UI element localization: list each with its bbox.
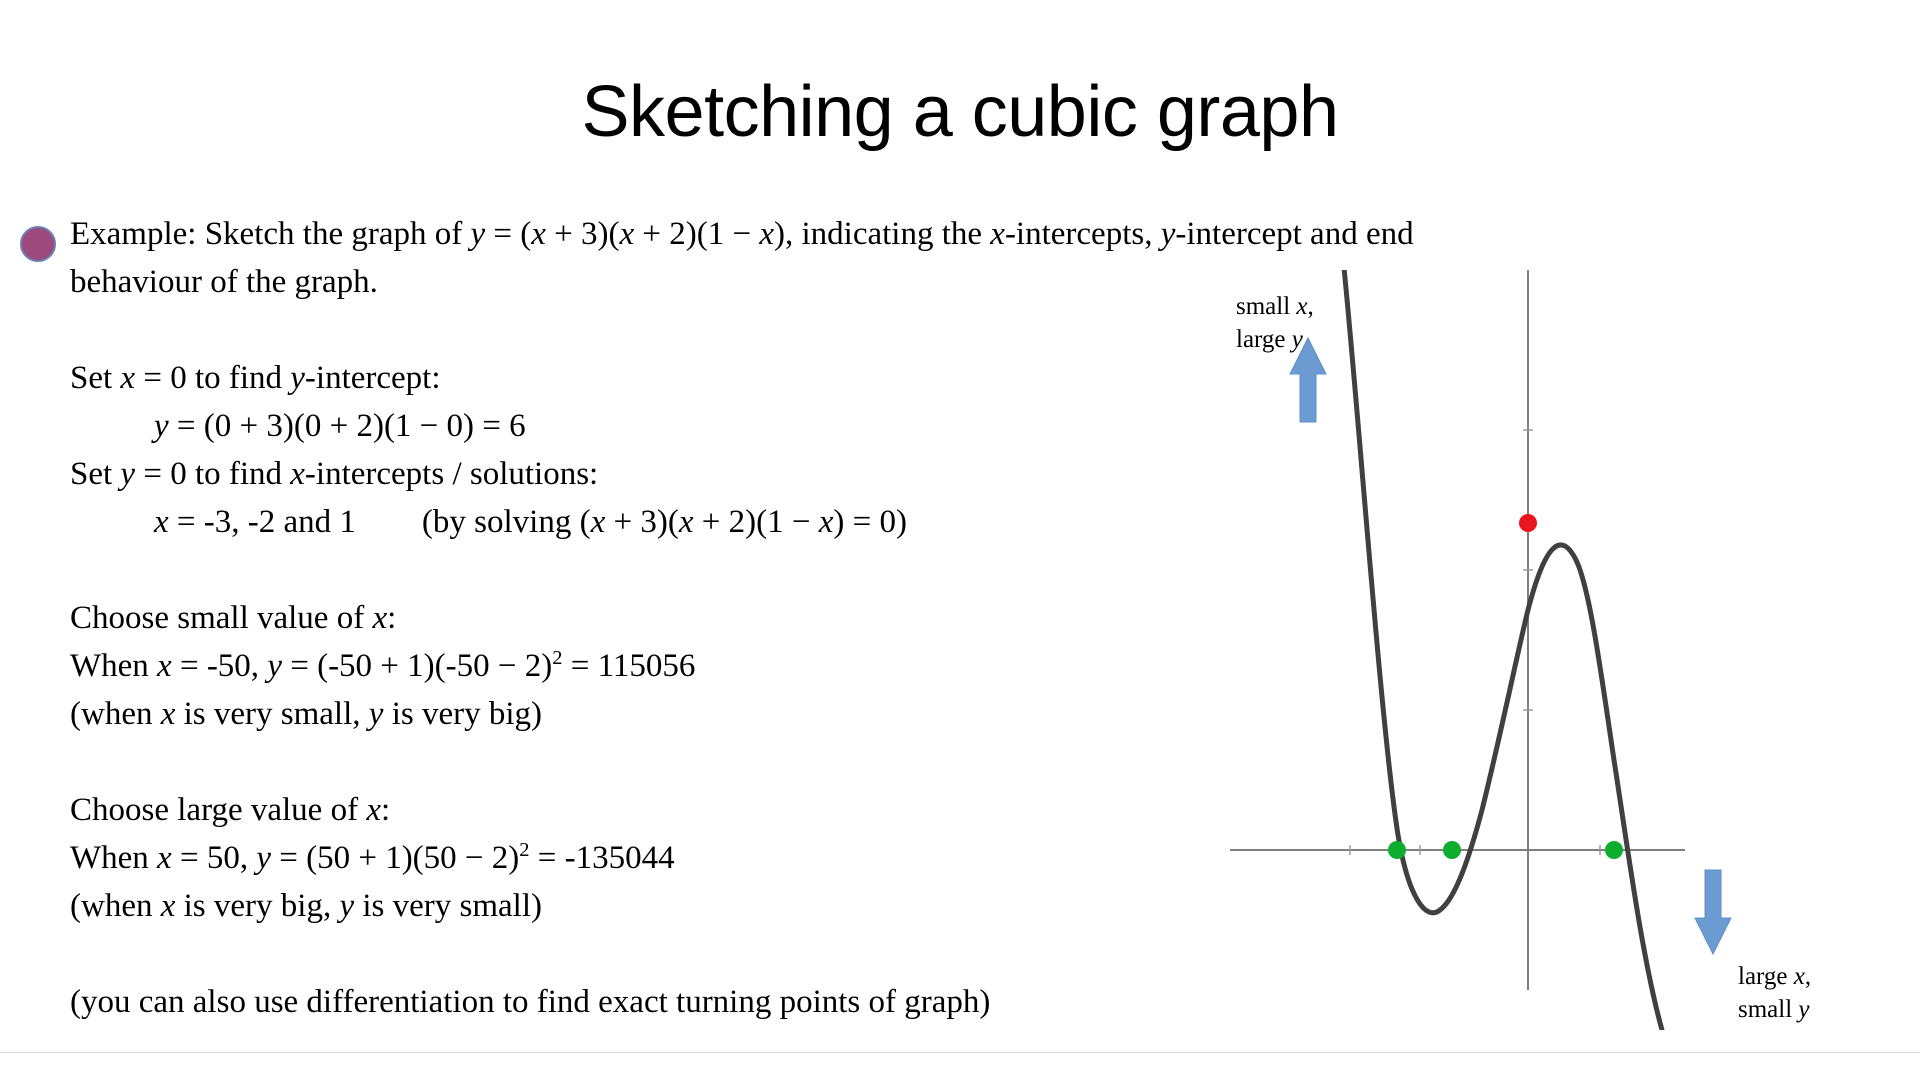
slide: Sketching a cubic graph Example: Sketch …: [0, 0, 1920, 1080]
label-text: small: [1738, 996, 1798, 1023]
var-y: y: [154, 408, 169, 444]
when-large-expr: = (50 + 1)(50 − 2): [271, 840, 519, 876]
intercept-colon: -intercept:: [305, 360, 441, 396]
var-y: y: [1798, 996, 1809, 1023]
by-solving-text: (by solving (: [422, 504, 591, 540]
paren-when: (when: [70, 888, 161, 924]
graph-svg: [1230, 270, 1890, 1030]
x-intercept-marker: [1605, 841, 1623, 859]
eq-zero-find: = 0 to find: [135, 456, 290, 492]
y-intercept-marker: [1519, 514, 1537, 532]
cubic-curve: [1342, 270, 1662, 1030]
close-indicating: ), indicating the: [774, 216, 990, 252]
var-y: y: [290, 360, 305, 396]
y-value-expr: = (0 + 3)(0 + 2)(1 − 0) = 6: [169, 408, 526, 444]
var-x: x: [1296, 293, 1307, 320]
var-x: x: [759, 216, 774, 252]
bullet-marker-icon: [20, 226, 56, 262]
var-x: x: [290, 456, 305, 492]
x-intercepts-text: -intercepts,: [1005, 216, 1161, 252]
plus2: + 2)(1 −: [634, 216, 759, 252]
label-text: large: [1236, 326, 1292, 353]
solve-end: ) = 0): [833, 504, 907, 540]
var-y: y: [1161, 216, 1176, 252]
graph-label-top-line2: large y: [1236, 323, 1314, 356]
var-y: y: [470, 216, 485, 252]
y-intercept-end-text: -intercept and end: [1175, 216, 1413, 252]
graph-label-top-line1: small x,: [1236, 290, 1314, 323]
when-word: When: [70, 648, 157, 684]
label-text: ,: [1805, 963, 1811, 990]
x-intercept-marker: [1443, 841, 1461, 859]
graph-label-bottom-line1: large x,: [1738, 960, 1811, 993]
var-x: x: [1794, 963, 1805, 990]
graph-label-top: small x, large y: [1236, 290, 1314, 356]
is-very-big-close: is very big): [383, 696, 542, 732]
var-x: x: [819, 504, 834, 540]
var-x: x: [619, 216, 634, 252]
var-x: x: [120, 360, 135, 396]
when-small-result: = 115056: [562, 648, 695, 684]
solve-mid1: + 3)(: [605, 504, 679, 540]
choose-small-text: Choose small value of: [70, 600, 372, 636]
var-y: y: [339, 888, 354, 924]
var-x: x: [372, 600, 387, 636]
when-small-mid: = -50,: [172, 648, 268, 684]
exponent-two: 2: [552, 647, 562, 669]
var-x: x: [366, 792, 381, 828]
cubic-graph: small x, large y large x, small y: [1230, 270, 1890, 1030]
graph-label-bottom-line2: small y: [1738, 993, 1811, 1026]
choose-large-text: Choose large value of: [70, 792, 366, 828]
label-text: large: [1738, 963, 1794, 990]
set-word: Set: [70, 360, 120, 396]
when-word: When: [70, 840, 157, 876]
colon: :: [381, 792, 390, 828]
var-y: y: [1292, 326, 1303, 353]
bottom-divider: [0, 1052, 1920, 1053]
x-values: = -3, -2 and 1: [169, 504, 356, 540]
solve-mid2: + 2)(1 −: [693, 504, 818, 540]
var-y: y: [120, 456, 135, 492]
var-x: x: [161, 696, 176, 732]
is-very-small: is very small,: [175, 696, 368, 732]
example-prefix: Example: Sketch the graph of: [70, 216, 470, 252]
var-y: y: [256, 840, 271, 876]
var-y: y: [369, 696, 384, 732]
var-x: x: [161, 888, 176, 924]
line-example: Example: Sketch the graph of y = (x + 3)…: [70, 210, 1860, 258]
eq-open: = (: [485, 216, 531, 252]
colon: :: [387, 600, 396, 636]
plus3: + 3)(: [546, 216, 620, 252]
set-word: Set: [70, 456, 120, 492]
eq-zero-find: = 0 to find: [135, 360, 290, 396]
intercepts-solutions: -intercepts / solutions:: [305, 456, 598, 492]
label-text: ,: [1308, 293, 1314, 320]
var-x: x: [157, 840, 172, 876]
is-very-small-close: is very small): [354, 888, 542, 924]
var-x: x: [531, 216, 546, 252]
x-intercept-marker: [1388, 841, 1406, 859]
exponent-two: 2: [519, 839, 529, 861]
var-x: x: [591, 504, 606, 540]
var-x: x: [679, 504, 694, 540]
when-small-expr: = (-50 + 1)(-50 − 2): [282, 648, 552, 684]
when-large-mid: = 50,: [172, 840, 257, 876]
label-text: small: [1236, 293, 1296, 320]
is-very-big: is very big,: [175, 888, 339, 924]
paren-when: (when: [70, 696, 161, 732]
when-large-result: = -135044: [530, 840, 675, 876]
var-x: x: [157, 648, 172, 684]
var-y: y: [267, 648, 282, 684]
var-x: x: [154, 504, 169, 540]
var-x: x: [990, 216, 1005, 252]
page-title: Sketching a cubic graph: [0, 74, 1920, 152]
graph-label-bottom: large x, small y: [1738, 960, 1811, 1026]
arrow-down-icon: [1695, 870, 1731, 954]
